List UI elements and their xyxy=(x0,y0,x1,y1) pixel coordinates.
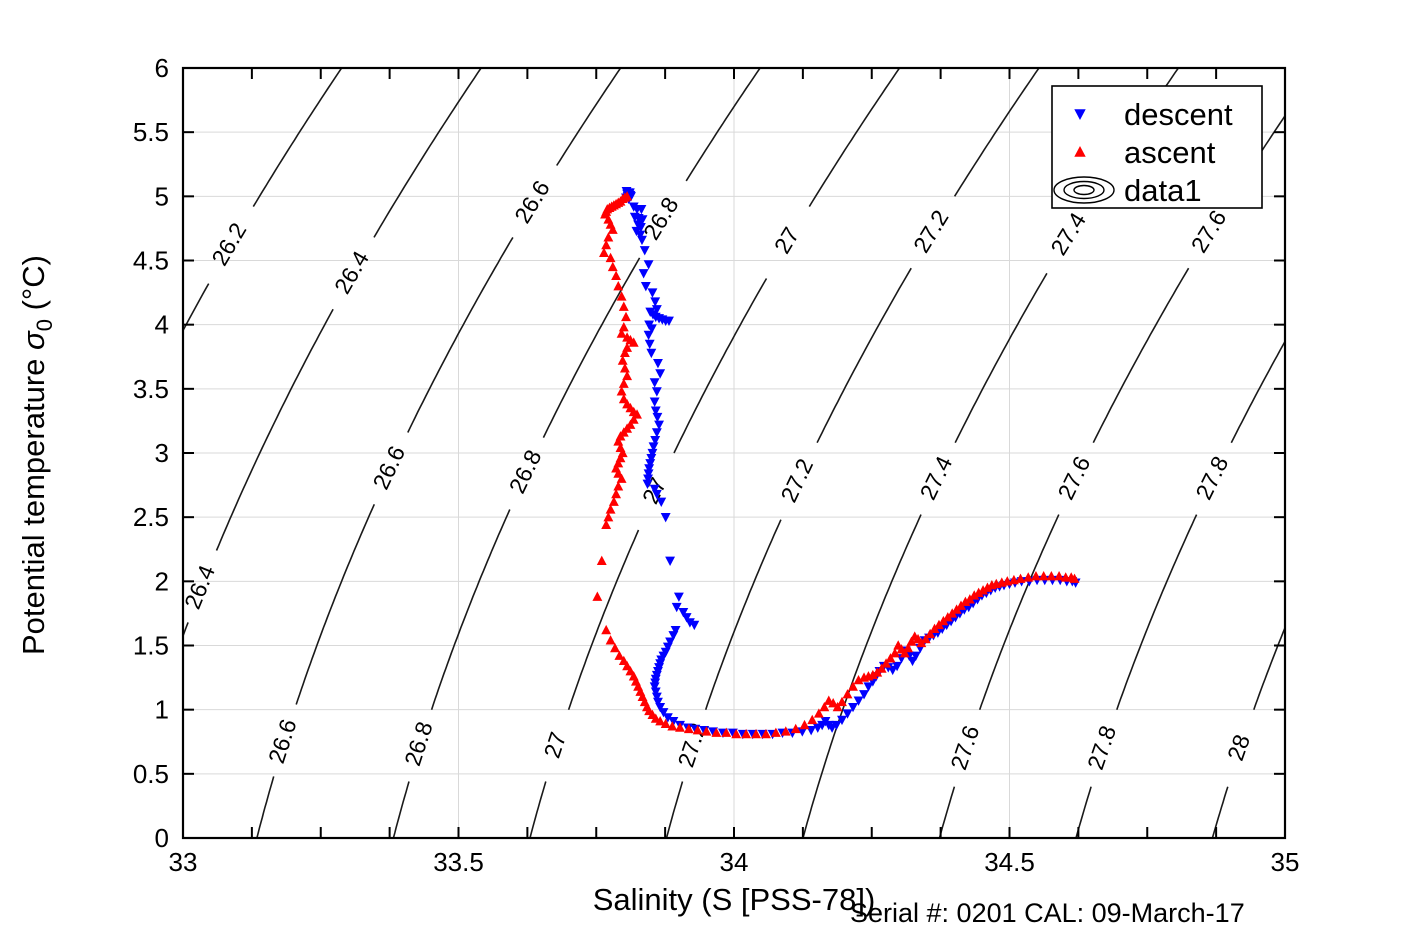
y-tick-label: 5.5 xyxy=(133,117,169,147)
y-tick-label: 4.5 xyxy=(133,246,169,276)
y-tick-label: 4 xyxy=(155,310,169,340)
y-tick-label: 1.5 xyxy=(133,631,169,661)
y-tick-label: 6 xyxy=(155,53,169,83)
y-axis-label: Potential temperature σ0 (°C) xyxy=(16,255,57,655)
y-tick-label: 3 xyxy=(155,438,169,468)
x-tick-label: 33.5 xyxy=(433,847,484,877)
y-tick-label: 0 xyxy=(155,823,169,853)
y-tick-label: 5 xyxy=(155,181,169,211)
legend[interactable]: descentascentdata1 xyxy=(1052,86,1262,208)
svg-text:Potential temperature σ0 (°C): Potential temperature σ0 (°C) xyxy=(16,255,57,655)
x-axis-label: Salinity (S [PSS-78]) xyxy=(593,882,876,917)
serial-cal-footer: Serial #: 0201 CAL: 09-March-17 xyxy=(850,898,1245,928)
x-tick-label: 35 xyxy=(1271,847,1300,877)
y-tick-label: 2 xyxy=(155,566,169,596)
legend-label-data1[interactable]: data1 xyxy=(1124,173,1202,208)
y-tick-label: 1 xyxy=(155,695,169,725)
ts-diagram-figure: 26.226.426.426.626.626.626.826.826.82727… xyxy=(0,0,1417,945)
y-tick-label: 3.5 xyxy=(133,374,169,404)
legend-label-ascent[interactable]: ascent xyxy=(1124,135,1216,170)
y-tick-label: 2.5 xyxy=(133,502,169,532)
x-tick-label: 33 xyxy=(169,847,198,877)
y-tick-label: 0.5 xyxy=(133,759,169,789)
legend-label-descent[interactable]: descent xyxy=(1124,97,1233,132)
x-tick-label: 34.5 xyxy=(984,847,1035,877)
x-tick-label: 34 xyxy=(720,847,749,877)
